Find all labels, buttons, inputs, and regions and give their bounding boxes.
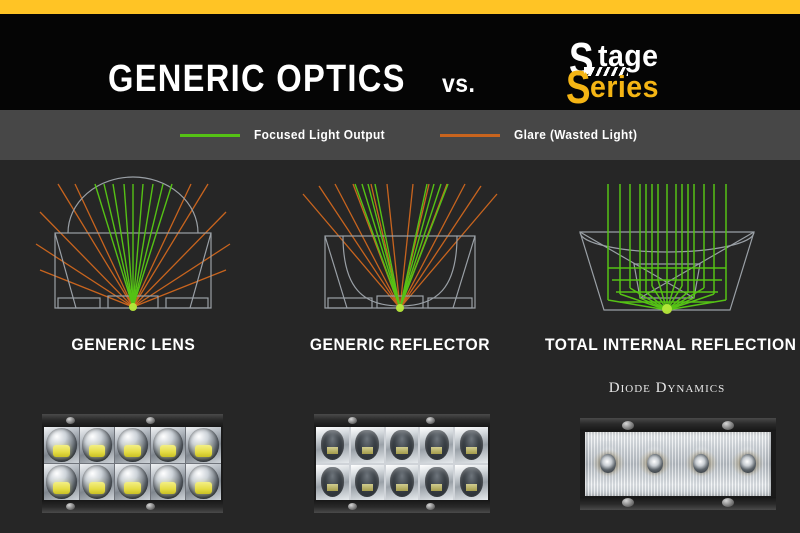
reflector-array <box>316 427 488 500</box>
logo-word-stage: tage <box>598 40 658 71</box>
column-generic-lens: GENERIC LENS <box>0 160 266 360</box>
legend-item-focused: Focused Light Output <box>180 125 392 145</box>
line-swatch-orange-icon <box>440 134 500 137</box>
reflector-glare-rays <box>303 184 497 308</box>
caption-tir: TOTAL INTERNAL REFLECTION <box>534 335 800 355</box>
line-swatch-green-icon <box>180 134 240 137</box>
diagram-tir-optic <box>534 170 800 330</box>
reflector-emitter <box>396 304 404 312</box>
caption-generic-reflector: GENERIC REFLECTOR <box>267 335 533 355</box>
tir-array <box>585 432 771 496</box>
versus-label: vs. <box>442 70 475 99</box>
product-photo-tir-bar <box>580 418 776 510</box>
product-photo-generic-reflector-bar <box>314 414 490 513</box>
top-accent-rule <box>0 0 800 14</box>
legend-label-focused: Focused Light Output <box>254 128 385 142</box>
stage-series-logo: S S tage eries <box>566 38 706 110</box>
column-generic-reflector: GENERIC REFLECTOR <box>267 160 533 360</box>
caption-generic-lens: GENERIC LENS <box>0 335 266 355</box>
legend-label-glare: Glare (Wasted Light) <box>514 128 637 142</box>
column-tir: TOTAL INTERNAL REFLECTION <box>534 160 800 360</box>
lens-array <box>44 427 221 500</box>
diagram-generic-reflector <box>267 170 533 330</box>
legend-item-glare: Glare (Wasted Light) <box>440 125 644 145</box>
tir-emitter <box>662 304 672 314</box>
brand-wordmark: Diode Dynamics <box>534 380 800 397</box>
header-bar: GENERIC OPTICS vs. S S tage eries <box>0 14 800 110</box>
page-title: GENERIC OPTICS <box>108 58 406 101</box>
tir-focused-rays <box>608 184 726 310</box>
diagram-generic-lens <box>0 170 266 330</box>
lens-emitter <box>129 303 137 311</box>
infographic-page: GENERIC OPTICS vs. S S tage eries Focuse… <box>0 0 800 533</box>
legend-bar: Focused Light Output Glare (Wasted Light… <box>0 110 800 160</box>
logo-word-series: eries <box>590 71 659 102</box>
product-photo-generic-lens-bar <box>42 414 223 513</box>
